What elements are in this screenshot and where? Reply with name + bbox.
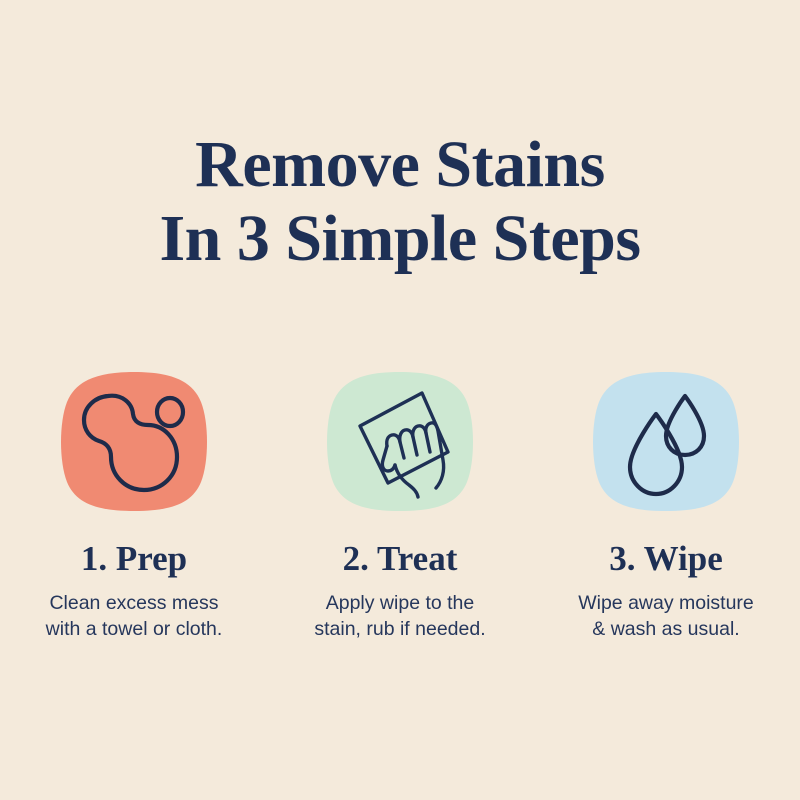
- step-3-icon-blob: [590, 370, 742, 513]
- step-2-desc-line-2: stain, rub if needed.: [314, 616, 485, 642]
- step-2-icon-blob: [324, 370, 476, 513]
- title-line-1: Remove Stains: [0, 128, 800, 202]
- step-1-icon-blob: [58, 370, 210, 513]
- page-title: Remove Stains In 3 Simple Steps: [0, 128, 800, 276]
- stain-spill-icon: [58, 370, 210, 513]
- step-1-desc-line-1: Clean excess mess: [46, 590, 223, 616]
- step-card-1: 1. Prep Clean excess mess with a towel o…: [1, 370, 267, 642]
- step-1-desc-line-2: with a towel or cloth.: [46, 616, 223, 642]
- water-droplets-icon: [590, 370, 742, 513]
- step-card-2: 2. Treat Apply wipe to the stain, rub if…: [267, 370, 533, 642]
- hand-wiping-cloth-icon: [324, 370, 476, 513]
- step-card-3: 3. Wipe Wipe away moisture & wash as usu…: [533, 370, 799, 642]
- step-3-title: 3. Wipe: [609, 539, 722, 579]
- step-2-description: Apply wipe to the stain, rub if needed.: [314, 590, 485, 642]
- step-3-desc-line-1: Wipe away moisture: [578, 590, 754, 616]
- step-2-desc-line-1: Apply wipe to the: [314, 590, 485, 616]
- steps-row: 1. Prep Clean excess mess with a towel o…: [0, 370, 800, 642]
- step-3-desc-line-2: & wash as usual.: [578, 616, 754, 642]
- title-line-2: In 3 Simple Steps: [0, 202, 800, 276]
- step-1-title: 1. Prep: [81, 539, 187, 579]
- step-1-description: Clean excess mess with a towel or cloth.: [46, 590, 223, 642]
- step-3-description: Wipe away moisture & wash as usual.: [578, 590, 754, 642]
- infographic-poster: Remove Stains In 3 Simple Steps 1. Prep …: [0, 0, 800, 800]
- step-2-title: 2. Treat: [343, 539, 458, 579]
